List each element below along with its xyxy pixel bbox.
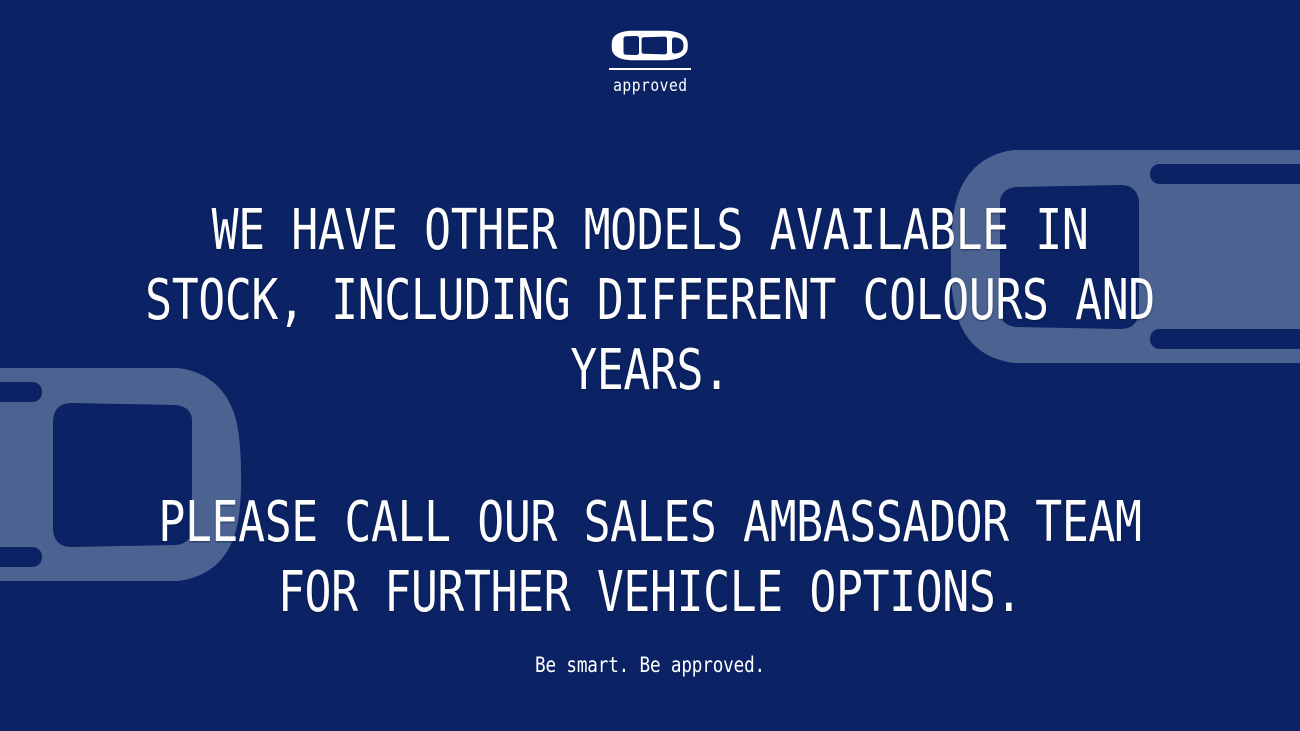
brand-wordmark: approved <box>613 76 688 96</box>
headline-paragraph-1: WE HAVE OTHER MODELS AVAILABLE IN STOCK,… <box>0 196 1300 406</box>
brand-lockup: approved <box>0 30 1300 96</box>
headline-line: YEARS. <box>130 336 1170 406</box>
headline-line: STOCK, INCLUDING DIFFERENT COLOURS AND <box>130 266 1170 336</box>
paragraph-spacer <box>0 406 1300 488</box>
headline-line: WE HAVE OTHER MODELS AVAILABLE IN <box>130 196 1170 266</box>
headline-message: WE HAVE OTHER MODELS AVAILABLE IN STOCK,… <box>0 196 1300 628</box>
headline-line: PLEASE CALL OUR SALES AMBASSADOR TEAM <box>130 488 1170 558</box>
headline-line: FOR FURTHER VEHICLE OPTIONS. <box>130 558 1170 628</box>
brand-divider <box>609 68 691 70</box>
car-top-view-icon <box>611 30 689 61</box>
headline-paragraph-2: PLEASE CALL OUR SALES AMBASSADOR TEAM FO… <box>0 488 1300 628</box>
brand-tagline: Be smart. Be approved. <box>104 652 1196 678</box>
promo-slide: approved WE HAVE OTHER MODELS AVAILABLE … <box>0 0 1300 731</box>
